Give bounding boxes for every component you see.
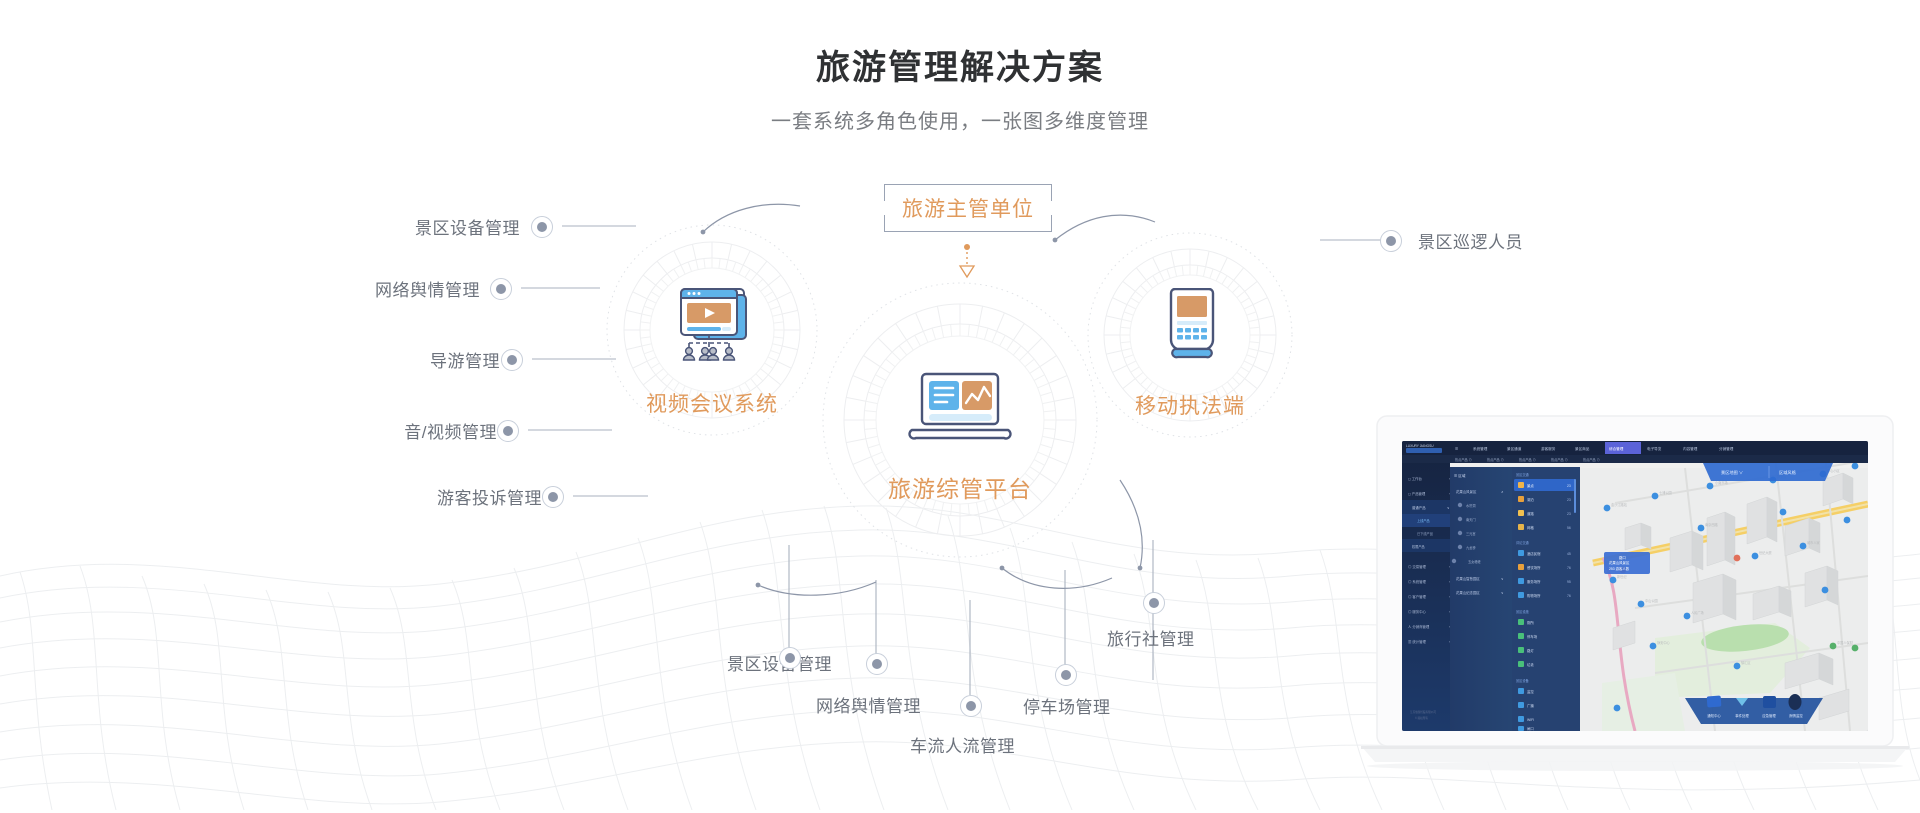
page-title: 旅游管理解决方案 bbox=[0, 40, 1920, 89]
svg-text:∨: ∨ bbox=[1501, 577, 1503, 581]
svg-text:城市人家: 城市人家 bbox=[1807, 540, 1821, 545]
svg-text:垃圾: 垃圾 bbox=[1527, 662, 1534, 667]
svg-text:›: › bbox=[1449, 625, 1450, 629]
svg-text:◎ 系统管理: ◎ 系统管理 bbox=[1408, 579, 1427, 584]
video-conference-icon bbox=[672, 286, 754, 362]
svg-text:热点产品 ⊙: 热点产品 ⊙ bbox=[1551, 457, 1568, 462]
svg-text:›: › bbox=[1449, 610, 1450, 614]
svg-text:热点产品 ⊙: 热点产品 ⊙ bbox=[1487, 457, 1504, 462]
svg-text:◻ 工作台: ◻ 工作台 bbox=[1408, 476, 1423, 481]
svg-text:事件处理: 事件处理 bbox=[1735, 713, 1749, 718]
edge-top bbox=[900, 184, 1036, 185]
svg-text:景区商品: 景区商品 bbox=[1575, 446, 1590, 451]
svg-text:湖泊: 湖泊 bbox=[1527, 497, 1534, 502]
svg-text:23: 23 bbox=[1567, 512, 1571, 516]
svg-text:∨: ∨ bbox=[1447, 506, 1449, 510]
left-label-2: 导游管理 bbox=[270, 347, 500, 372]
svg-text:▦ 统计管理: ▦ 统计管理 bbox=[1408, 639, 1427, 644]
left-label-1: 网络舆情管理 bbox=[240, 276, 480, 301]
svg-text:56: 56 bbox=[1567, 526, 1571, 530]
svg-text:舆情监控: 舆情监控 bbox=[1789, 713, 1803, 718]
bottom-label-1: 网络舆情管理 bbox=[816, 692, 921, 717]
svg-text:通知中心: 通知中心 bbox=[1707, 713, 1721, 718]
svg-text:253 游客人数: 253 游客人数 bbox=[1609, 566, 1630, 571]
right-label-0: 景区巡逻人员 bbox=[1418, 228, 1523, 253]
svg-text:LUXURY JIANGSU: LUXURY JIANGSU bbox=[1406, 444, 1434, 448]
svg-text:76: 76 bbox=[1567, 566, 1571, 570]
svg-text:中山公园: 中山公园 bbox=[1645, 598, 1658, 603]
svg-text:花果山智慧园区: 花果山智慧园区 bbox=[1456, 576, 1480, 581]
corner-top-left bbox=[884, 184, 901, 201]
svg-text:七浦公园: 七浦公园 bbox=[1659, 490, 1672, 495]
svg-text:静安中心: 静安中心 bbox=[1657, 640, 1671, 645]
right-node-0[interactable] bbox=[1380, 230, 1402, 252]
svg-text:三元宫: 三元宫 bbox=[1466, 531, 1476, 536]
svg-text:花果山风景区: 花果山风景区 bbox=[1609, 560, 1630, 565]
edge-bottom bbox=[900, 231, 1036, 232]
svg-text:景区设备: 景区设备 bbox=[1516, 678, 1530, 683]
page-subtitle: 一套系统多角色使用，一张图多维度管理 bbox=[0, 105, 1920, 134]
bottom-node-3[interactable] bbox=[1055, 664, 1077, 686]
svg-text:景点: 景点 bbox=[1527, 483, 1534, 488]
bottom-label-2: 车流人流管理 bbox=[910, 732, 1015, 757]
svg-text:权限产品: 权限产品 bbox=[1412, 544, 1425, 549]
left-node-2[interactable] bbox=[501, 349, 523, 371]
svg-text:九龙桥: 九龙桥 bbox=[1466, 545, 1476, 550]
svg-text:☰ 区域: ☰ 区域 bbox=[1454, 473, 1466, 478]
svg-text:© 版权所有: © 版权所有 bbox=[1415, 716, 1428, 720]
svg-text:热点产品 ⊙: 热点产品 ⊙ bbox=[1583, 457, 1600, 462]
supervisor-label: 旅游主管单位 bbox=[902, 193, 1034, 223]
svg-text:中国人保财: 中国人保财 bbox=[1837, 640, 1854, 645]
corner-top-right bbox=[1035, 184, 1052, 201]
svg-text:WIFI: WIFI bbox=[1527, 718, 1534, 722]
laptop-product-screenshot[interactable]: 金沙江路站七浦公园 小南市场静安区 中心小区新世纪 中山公园人民广场 世纪大厦城… bbox=[1355, 408, 1915, 808]
svg-text:◎ 客户管理: ◎ 客户管理 bbox=[1408, 594, 1427, 599]
svg-text:∨: ∨ bbox=[1501, 591, 1503, 595]
svg-text:南天门: 南天门 bbox=[1466, 517, 1476, 522]
svg-text:水帘洞: 水帘洞 bbox=[1466, 503, 1476, 508]
svg-text:◻ 产品管理: ◻ 产品管理 bbox=[1408, 491, 1426, 496]
svg-text:徐汇区: 徐汇区 bbox=[1741, 660, 1751, 665]
bottom-node-0[interactable] bbox=[779, 647, 801, 669]
svg-text:上线产品: 上线产品 bbox=[1417, 518, 1430, 523]
left-label-0: 景区设备管理 bbox=[280, 214, 520, 239]
svg-text:花果山纪念园区: 花果山纪念园区 bbox=[1456, 590, 1480, 595]
svg-text:酒店民宿: 酒店民宿 bbox=[1527, 551, 1541, 556]
svg-text:景区地图 ∨: 景区地图 ∨ bbox=[1721, 469, 1743, 476]
corner-bottom-right bbox=[1035, 215, 1052, 232]
svg-text:45: 45 bbox=[1567, 552, 1571, 556]
svg-text:›: › bbox=[1449, 595, 1450, 599]
svg-text:网格: 网格 bbox=[1527, 525, 1534, 530]
bottom-node-1[interactable] bbox=[866, 653, 888, 675]
svg-text:已下线产品: 已下线产品 bbox=[1417, 531, 1433, 536]
svg-text:南京西路: 南京西路 bbox=[1705, 522, 1719, 527]
svg-text:路口: 路口 bbox=[1619, 555, 1626, 560]
svg-text:餐饮场所: 餐饮场所 bbox=[1527, 565, 1541, 570]
svg-text:人 分销商管理: 人 分销商管理 bbox=[1408, 624, 1430, 629]
bottom-label-3: 停车场管理 bbox=[1023, 693, 1111, 718]
svg-text:景区设施: 景区设施 bbox=[1516, 609, 1530, 614]
svg-text:景区交通: 景区交通 bbox=[1516, 472, 1530, 477]
svg-text:花果山风景区: 花果山风景区 bbox=[1456, 489, 1477, 494]
handheld-terminal-icon bbox=[1164, 288, 1220, 366]
svg-text:人民广场: 人民广场 bbox=[1691, 610, 1704, 615]
svg-text:普通产品: 普通产品 bbox=[1412, 505, 1426, 510]
left-label-3: 音/视频管理 bbox=[257, 418, 497, 443]
svg-text:23: 23 bbox=[1567, 498, 1571, 502]
svg-text:分销管理: 分销管理 bbox=[1719, 446, 1734, 451]
svg-text:›: › bbox=[1449, 640, 1450, 644]
svg-text:评论交通: 评论交通 bbox=[1516, 540, 1530, 545]
svg-text:景区通道: 景区通道 bbox=[1507, 446, 1522, 451]
left-node-0[interactable] bbox=[531, 216, 553, 238]
svg-text:76: 76 bbox=[1567, 594, 1571, 598]
left-node-1[interactable] bbox=[490, 278, 512, 300]
svg-text:›: › bbox=[1449, 477, 1450, 481]
laptop-dashboard-icon bbox=[908, 372, 1012, 442]
svg-text:综合管理: 综合管理 bbox=[1609, 446, 1624, 451]
svg-text:道路: 道路 bbox=[1527, 511, 1534, 516]
corner-bottom-left bbox=[884, 215, 901, 232]
svg-text:系统管理: 系统管理 bbox=[1473, 446, 1488, 451]
hub-caption-mobile: 移动执法端 bbox=[1085, 390, 1295, 420]
svg-text:电子导览: 电子导览 bbox=[1647, 446, 1662, 451]
svg-text:广播: 广播 bbox=[1527, 703, 1534, 708]
svg-text:›: › bbox=[1449, 565, 1450, 569]
svg-text:›: › bbox=[1449, 580, 1450, 584]
svg-text:监控: 监控 bbox=[1527, 689, 1534, 694]
svg-text:◎ 交易管理: ◎ 交易管理 bbox=[1408, 564, 1427, 569]
svg-text:游客服务: 游客服务 bbox=[1541, 446, 1556, 451]
svg-text:热点产品 ⊙: 热点产品 ⊙ bbox=[1455, 457, 1472, 462]
svg-text:95: 95 bbox=[1567, 580, 1571, 584]
svg-text:新世纪: 新世纪 bbox=[1617, 574, 1627, 579]
svg-text:应急管理: 应急管理 bbox=[1762, 713, 1776, 718]
svg-text:路灯: 路灯 bbox=[1527, 648, 1534, 653]
svg-text:金沙江路站: 金沙江路站 bbox=[1611, 502, 1628, 507]
svg-text:世纪大厦: 世纪大厦 bbox=[1759, 550, 1773, 555]
solution-diagram-page: 旅游管理解决方案 一套系统多角色使用，一张图多维度管理 bbox=[0, 0, 1920, 810]
svg-text:购物场所: 购物场所 bbox=[1527, 593, 1541, 598]
svg-text:停车场: 停车场 bbox=[1527, 634, 1538, 639]
hub-caption-video: 视频会议系统 bbox=[604, 388, 820, 418]
svg-text:江苏旅游控股有限公司: 江苏旅游控股有限公司 bbox=[1410, 710, 1436, 714]
bottom-label-4: 旅行社管理 bbox=[1107, 625, 1195, 650]
bottom-node-4[interactable] bbox=[1143, 592, 1165, 614]
left-node-4[interactable] bbox=[542, 486, 564, 508]
svg-text:23: 23 bbox=[1567, 484, 1571, 488]
svg-text:服务场所: 服务场所 bbox=[1527, 579, 1541, 584]
left-label-4: 游客投诉管理 bbox=[302, 484, 542, 509]
svg-text:内容管理: 内容管理 bbox=[1683, 446, 1698, 451]
svg-text:热点产品 ⊙: 热点产品 ⊙ bbox=[1519, 457, 1536, 462]
svg-text:玉女峰峰: 玉女峰峰 bbox=[1468, 559, 1482, 564]
hub-caption-platform: 旅游综管平台 bbox=[820, 470, 1100, 504]
bottom-node-2[interactable] bbox=[960, 695, 982, 717]
svg-text:∧: ∧ bbox=[1501, 490, 1503, 494]
supervisor-authority-box[interactable]: 旅游主管单位 bbox=[884, 184, 1052, 232]
svg-text:◎ 服务中心: ◎ 服务中心 bbox=[1408, 609, 1427, 614]
svg-text:区域风格: 区域风格 bbox=[1779, 469, 1797, 476]
svg-text:厕所: 厕所 bbox=[1527, 620, 1534, 625]
svg-text:闸口: 闸口 bbox=[1527, 726, 1534, 731]
left-node-3[interactable] bbox=[497, 420, 519, 442]
